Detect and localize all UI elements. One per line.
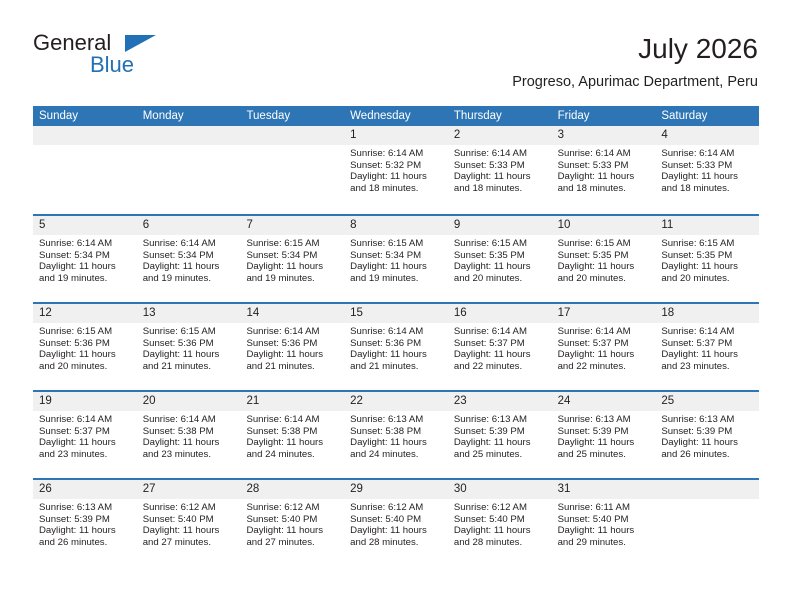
day-cell[interactable]: 9 Sunrise: 6:15 AM Sunset: 5:35 PM Dayli… — [448, 216, 552, 302]
day-cell[interactable]: 14 Sunrise: 6:14 AM Sunset: 5:36 PM Dayl… — [240, 304, 344, 390]
daylight-text-line1: Daylight: 11 hours — [39, 349, 131, 361]
page-header: General Blue July 2026 Progreso, Apurima… — [33, 32, 758, 96]
day-details: Sunrise: 6:14 AM Sunset: 5:38 PM Dayligh… — [240, 411, 344, 461]
daylight-text-line2: and 22 minutes. — [454, 361, 546, 373]
daylight-text-line1: Daylight: 11 hours — [350, 525, 442, 537]
daylight-text-line1: Daylight: 11 hours — [558, 437, 650, 449]
daylight-text-line2: and 20 minutes. — [39, 361, 131, 373]
daylight-text-line1: Daylight: 11 hours — [246, 261, 338, 273]
day-details: Sunrise: 6:14 AM Sunset: 5:33 PM Dayligh… — [552, 145, 656, 195]
daylight-text-line2: and 18 minutes. — [661, 183, 753, 195]
daylight-text-line2: and 26 minutes. — [661, 449, 753, 461]
day-number: 30 — [448, 480, 552, 499]
daylight-text-line1: Daylight: 11 hours — [350, 171, 442, 183]
day-details: Sunrise: 6:14 AM Sunset: 5:36 PM Dayligh… — [240, 323, 344, 373]
daylight-text-line1: Daylight: 11 hours — [558, 261, 650, 273]
day-number: 15 — [344, 304, 448, 323]
sunset-text: Sunset: 5:34 PM — [143, 250, 235, 262]
daylight-text-line2: and 22 minutes. — [558, 361, 650, 373]
day-cell[interactable]: 4 Sunrise: 6:14 AM Sunset: 5:33 PM Dayli… — [655, 126, 759, 214]
daylight-text-line2: and 27 minutes. — [143, 537, 235, 549]
sunrise-text: Sunrise: 6:14 AM — [39, 238, 131, 250]
sunset-text: Sunset: 5:32 PM — [350, 160, 442, 172]
day-number: 2 — [448, 126, 552, 145]
sunrise-text: Sunrise: 6:14 AM — [661, 326, 753, 338]
sunset-text: Sunset: 5:33 PM — [558, 160, 650, 172]
day-details: Sunrise: 6:13 AM Sunset: 5:39 PM Dayligh… — [33, 499, 137, 549]
day-number — [137, 126, 241, 145]
day-details: Sunrise: 6:13 AM Sunset: 5:39 PM Dayligh… — [655, 411, 759, 461]
sunrise-text: Sunrise: 6:14 AM — [454, 148, 546, 160]
day-number: 12 — [33, 304, 137, 323]
logo-text-general: General — [33, 32, 111, 54]
daylight-text-line1: Daylight: 11 hours — [350, 349, 442, 361]
day-details: Sunrise: 6:13 AM Sunset: 5:39 PM Dayligh… — [448, 411, 552, 461]
day-details: Sunrise: 6:15 AM Sunset: 5:35 PM Dayligh… — [552, 235, 656, 285]
sunrise-text: Sunrise: 6:14 AM — [39, 414, 131, 426]
day-cell[interactable]: 29 Sunrise: 6:12 AM Sunset: 5:40 PM Dayl… — [344, 480, 448, 566]
day-details: Sunrise: 6:14 AM Sunset: 5:34 PM Dayligh… — [137, 235, 241, 285]
day-details: Sunrise: 6:13 AM Sunset: 5:39 PM Dayligh… — [552, 411, 656, 461]
sunrise-text: Sunrise: 6:11 AM — [558, 502, 650, 514]
day-details: Sunrise: 6:14 AM Sunset: 5:33 PM Dayligh… — [655, 145, 759, 195]
daylight-text-line1: Daylight: 11 hours — [143, 261, 235, 273]
day-cell[interactable]: 20 Sunrise: 6:14 AM Sunset: 5:38 PM Dayl… — [137, 392, 241, 478]
day-details: Sunrise: 6:15 AM Sunset: 5:34 PM Dayligh… — [240, 235, 344, 285]
day-details: Sunrise: 6:14 AM Sunset: 5:38 PM Dayligh… — [137, 411, 241, 461]
day-details: Sunrise: 6:14 AM Sunset: 5:37 PM Dayligh… — [552, 323, 656, 373]
calendar-page: General Blue July 2026 Progreso, Apurima… — [0, 0, 792, 612]
day-number: 20 — [137, 392, 241, 411]
logo-text-blue: Blue — [90, 54, 134, 76]
daylight-text-line2: and 18 minutes. — [454, 183, 546, 195]
sunset-text: Sunset: 5:39 PM — [558, 426, 650, 438]
sunset-text: Sunset: 5:38 PM — [143, 426, 235, 438]
day-details: Sunrise: 6:12 AM Sunset: 5:40 PM Dayligh… — [448, 499, 552, 549]
sunset-text: Sunset: 5:40 PM — [558, 514, 650, 526]
day-number: 24 — [552, 392, 656, 411]
daylight-text-line1: Daylight: 11 hours — [143, 525, 235, 537]
sunrise-text: Sunrise: 6:13 AM — [350, 414, 442, 426]
daylight-text-line2: and 19 minutes. — [143, 273, 235, 285]
sunrise-text: Sunrise: 6:12 AM — [454, 502, 546, 514]
sunrise-text: Sunrise: 6:13 AM — [661, 414, 753, 426]
week-row: 26 Sunrise: 6:13 AM Sunset: 5:39 PM Dayl… — [33, 478, 759, 566]
day-cell — [240, 126, 344, 214]
title-block: July 2026 Progreso, Apurimac Department,… — [512, 32, 758, 92]
sunset-text: Sunset: 5:34 PM — [39, 250, 131, 262]
daylight-text-line2: and 28 minutes. — [350, 537, 442, 549]
day-number: 7 — [240, 216, 344, 235]
day-number — [33, 126, 137, 145]
daylight-text-line1: Daylight: 11 hours — [454, 437, 546, 449]
day-cell — [655, 480, 759, 566]
sunset-text: Sunset: 5:39 PM — [454, 426, 546, 438]
day-cell[interactable]: 12 Sunrise: 6:15 AM Sunset: 5:36 PM Dayl… — [33, 304, 137, 390]
day-number: 8 — [344, 216, 448, 235]
sunrise-text: Sunrise: 6:14 AM — [558, 148, 650, 160]
day-cell[interactable]: 24 Sunrise: 6:13 AM Sunset: 5:39 PM Dayl… — [552, 392, 656, 478]
daylight-text-line1: Daylight: 11 hours — [661, 261, 753, 273]
calendar-grid: Sunday Monday Tuesday Wednesday Thursday… — [33, 106, 759, 566]
daylight-text-line1: Daylight: 11 hours — [143, 349, 235, 361]
day-cell[interactable]: 30 Sunrise: 6:12 AM Sunset: 5:40 PM Dayl… — [448, 480, 552, 566]
week-row: 12 Sunrise: 6:15 AM Sunset: 5:36 PM Dayl… — [33, 302, 759, 390]
sunset-text: Sunset: 5:37 PM — [661, 338, 753, 350]
sunrise-text: Sunrise: 6:14 AM — [350, 326, 442, 338]
day-number: 27 — [137, 480, 241, 499]
day-number: 11 — [655, 216, 759, 235]
daylight-text-line1: Daylight: 11 hours — [558, 349, 650, 361]
day-number: 16 — [448, 304, 552, 323]
day-number: 25 — [655, 392, 759, 411]
day-number: 23 — [448, 392, 552, 411]
day-cell[interactable]: 27 Sunrise: 6:12 AM Sunset: 5:40 PM Dayl… — [137, 480, 241, 566]
day-cell[interactable]: 7 Sunrise: 6:15 AM Sunset: 5:34 PM Dayli… — [240, 216, 344, 302]
sunset-text: Sunset: 5:40 PM — [143, 514, 235, 526]
sunset-text: Sunset: 5:40 PM — [350, 514, 442, 526]
sunrise-text: Sunrise: 6:14 AM — [558, 326, 650, 338]
sunrise-text: Sunrise: 6:13 AM — [39, 502, 131, 514]
day-details: Sunrise: 6:12 AM Sunset: 5:40 PM Dayligh… — [344, 499, 448, 549]
day-number: 17 — [552, 304, 656, 323]
weekday-header-monday: Monday — [137, 106, 241, 126]
day-number: 1 — [344, 126, 448, 145]
day-number — [240, 126, 344, 145]
day-details: Sunrise: 6:13 AM Sunset: 5:38 PM Dayligh… — [344, 411, 448, 461]
daylight-text-line1: Daylight: 11 hours — [558, 171, 650, 183]
daylight-text-line2: and 26 minutes. — [39, 537, 131, 549]
daylight-text-line1: Daylight: 11 hours — [350, 261, 442, 273]
day-cell[interactable]: 5 Sunrise: 6:14 AM Sunset: 5:34 PM Dayli… — [33, 216, 137, 302]
day-details: Sunrise: 6:14 AM Sunset: 5:37 PM Dayligh… — [655, 323, 759, 373]
day-number: 26 — [33, 480, 137, 499]
day-cell[interactable]: 26 Sunrise: 6:13 AM Sunset: 5:39 PM Dayl… — [33, 480, 137, 566]
daylight-text-line2: and 28 minutes. — [454, 537, 546, 549]
page-subtitle: Progreso, Apurimac Department, Peru — [512, 72, 758, 92]
daylight-text-line2: and 29 minutes. — [558, 537, 650, 549]
daylight-text-line1: Daylight: 11 hours — [39, 261, 131, 273]
daylight-text-line1: Daylight: 11 hours — [39, 437, 131, 449]
day-cell[interactable]: 22 Sunrise: 6:13 AM Sunset: 5:38 PM Dayl… — [344, 392, 448, 478]
daylight-text-line1: Daylight: 11 hours — [661, 437, 753, 449]
sunrise-text: Sunrise: 6:15 AM — [454, 238, 546, 250]
weekday-header-tuesday: Tuesday — [240, 106, 344, 126]
general-blue-logo[interactable]: General Blue — [33, 32, 213, 80]
daylight-text-line2: and 25 minutes. — [454, 449, 546, 461]
sunrise-text: Sunrise: 6:14 AM — [143, 238, 235, 250]
sunrise-text: Sunrise: 6:14 AM — [246, 326, 338, 338]
week-row: 19 Sunrise: 6:14 AM Sunset: 5:37 PM Dayl… — [33, 390, 759, 478]
daylight-text-line2: and 19 minutes. — [246, 273, 338, 285]
daylight-text-line2: and 24 minutes. — [246, 449, 338, 461]
daylight-text-line1: Daylight: 11 hours — [246, 349, 338, 361]
day-number: 5 — [33, 216, 137, 235]
day-cell[interactable]: 19 Sunrise: 6:14 AM Sunset: 5:37 PM Dayl… — [33, 392, 137, 478]
day-cell — [137, 126, 241, 214]
sunrise-text: Sunrise: 6:15 AM — [350, 238, 442, 250]
sunset-text: Sunset: 5:36 PM — [39, 338, 131, 350]
day-number: 13 — [137, 304, 241, 323]
weekday-header-thursday: Thursday — [448, 106, 552, 126]
daylight-text-line2: and 25 minutes. — [558, 449, 650, 461]
day-details: Sunrise: 6:15 AM Sunset: 5:34 PM Dayligh… — [344, 235, 448, 285]
daylight-text-line2: and 24 minutes. — [350, 449, 442, 461]
sunrise-text: Sunrise: 6:15 AM — [661, 238, 753, 250]
sunrise-text: Sunrise: 6:14 AM — [454, 326, 546, 338]
daylight-text-line2: and 21 minutes. — [350, 361, 442, 373]
weekday-header-row: Sunday Monday Tuesday Wednesday Thursday… — [33, 106, 759, 126]
daylight-text-line2: and 27 minutes. — [246, 537, 338, 549]
sunset-text: Sunset: 5:36 PM — [246, 338, 338, 350]
day-details: Sunrise: 6:12 AM Sunset: 5:40 PM Dayligh… — [240, 499, 344, 549]
sunset-text: Sunset: 5:39 PM — [661, 426, 753, 438]
day-number: 22 — [344, 392, 448, 411]
sunrise-text: Sunrise: 6:14 AM — [143, 414, 235, 426]
week-row: 1 Sunrise: 6:14 AM Sunset: 5:32 PM Dayli… — [33, 126, 759, 214]
day-details: Sunrise: 6:12 AM Sunset: 5:40 PM Dayligh… — [137, 499, 241, 549]
day-number: 9 — [448, 216, 552, 235]
day-cell[interactable]: 1 Sunrise: 6:14 AM Sunset: 5:32 PM Dayli… — [344, 126, 448, 214]
sunset-text: Sunset: 5:35 PM — [558, 250, 650, 262]
daylight-text-line1: Daylight: 11 hours — [661, 349, 753, 361]
sunset-text: Sunset: 5:38 PM — [246, 426, 338, 438]
day-details: Sunrise: 6:14 AM Sunset: 5:34 PM Dayligh… — [33, 235, 137, 285]
day-cell[interactable]: 13 Sunrise: 6:15 AM Sunset: 5:36 PM Dayl… — [137, 304, 241, 390]
sunrise-text: Sunrise: 6:12 AM — [350, 502, 442, 514]
sunset-text: Sunset: 5:37 PM — [454, 338, 546, 350]
weekday-header-sunday: Sunday — [33, 106, 137, 126]
sunrise-text: Sunrise: 6:14 AM — [350, 148, 442, 160]
sunrise-text: Sunrise: 6:13 AM — [454, 414, 546, 426]
sunrise-text: Sunrise: 6:15 AM — [39, 326, 131, 338]
sunrise-text: Sunrise: 6:12 AM — [246, 502, 338, 514]
daylight-text-line2: and 20 minutes. — [558, 273, 650, 285]
day-number: 3 — [552, 126, 656, 145]
sunrise-text: Sunrise: 6:14 AM — [246, 414, 338, 426]
sunrise-text: Sunrise: 6:12 AM — [143, 502, 235, 514]
sunset-text: Sunset: 5:40 PM — [454, 514, 546, 526]
day-details: Sunrise: 6:11 AM Sunset: 5:40 PM Dayligh… — [552, 499, 656, 549]
day-number: 19 — [33, 392, 137, 411]
day-cell[interactable]: 11 Sunrise: 6:15 AM Sunset: 5:35 PM Dayl… — [655, 216, 759, 302]
day-number — [655, 480, 759, 499]
day-details: Sunrise: 6:15 AM Sunset: 5:35 PM Dayligh… — [655, 235, 759, 285]
day-cell[interactable]: 23 Sunrise: 6:13 AM Sunset: 5:39 PM Dayl… — [448, 392, 552, 478]
daylight-text-line1: Daylight: 11 hours — [246, 525, 338, 537]
day-cell — [33, 126, 137, 214]
day-number: 21 — [240, 392, 344, 411]
daylight-text-line1: Daylight: 11 hours — [39, 525, 131, 537]
sunset-text: Sunset: 5:35 PM — [661, 250, 753, 262]
daylight-text-line1: Daylight: 11 hours — [246, 437, 338, 449]
day-cell[interactable]: 18 Sunrise: 6:14 AM Sunset: 5:37 PM Dayl… — [655, 304, 759, 390]
day-cell[interactable]: 25 Sunrise: 6:13 AM Sunset: 5:39 PM Dayl… — [655, 392, 759, 478]
day-cell[interactable]: 28 Sunrise: 6:12 AM Sunset: 5:40 PM Dayl… — [240, 480, 344, 566]
sunset-text: Sunset: 5:33 PM — [661, 160, 753, 172]
daylight-text-line2: and 21 minutes. — [143, 361, 235, 373]
day-number: 28 — [240, 480, 344, 499]
sunset-text: Sunset: 5:39 PM — [39, 514, 131, 526]
sunset-text: Sunset: 5:34 PM — [246, 250, 338, 262]
sunrise-text: Sunrise: 6:14 AM — [661, 148, 753, 160]
day-number: 4 — [655, 126, 759, 145]
weekday-header-wednesday: Wednesday — [344, 106, 448, 126]
day-details: Sunrise: 6:14 AM Sunset: 5:33 PM Dayligh… — [448, 145, 552, 195]
day-cell[interactable]: 8 Sunrise: 6:15 AM Sunset: 5:34 PM Dayli… — [344, 216, 448, 302]
sunset-text: Sunset: 5:35 PM — [454, 250, 546, 262]
day-details: Sunrise: 6:14 AM Sunset: 5:32 PM Dayligh… — [344, 145, 448, 195]
daylight-text-line1: Daylight: 11 hours — [454, 261, 546, 273]
daylight-text-line2: and 20 minutes. — [661, 273, 753, 285]
daylight-text-line1: Daylight: 11 hours — [558, 525, 650, 537]
day-number: 6 — [137, 216, 241, 235]
day-cell[interactable]: 2 Sunrise: 6:14 AM Sunset: 5:33 PM Dayli… — [448, 126, 552, 214]
sunset-text: Sunset: 5:36 PM — [143, 338, 235, 350]
day-number: 31 — [552, 480, 656, 499]
sunset-text: Sunset: 5:34 PM — [350, 250, 442, 262]
daylight-text-line1: Daylight: 11 hours — [350, 437, 442, 449]
daylight-text-line2: and 19 minutes. — [39, 273, 131, 285]
daylight-text-line1: Daylight: 11 hours — [454, 525, 546, 537]
sunrise-text: Sunrise: 6:15 AM — [558, 238, 650, 250]
day-cell[interactable]: 10 Sunrise: 6:15 AM Sunset: 5:35 PM Dayl… — [552, 216, 656, 302]
sunset-text: Sunset: 5:38 PM — [350, 426, 442, 438]
daylight-text-line2: and 19 minutes. — [350, 273, 442, 285]
daylight-text-line1: Daylight: 11 hours — [454, 171, 546, 183]
weekday-header-saturday: Saturday — [655, 106, 759, 126]
sunset-text: Sunset: 5:37 PM — [558, 338, 650, 350]
daylight-text-line2: and 20 minutes. — [454, 273, 546, 285]
daylight-text-line2: and 23 minutes. — [143, 449, 235, 461]
day-details: Sunrise: 6:14 AM Sunset: 5:36 PM Dayligh… — [344, 323, 448, 373]
day-details: Sunrise: 6:14 AM Sunset: 5:37 PM Dayligh… — [33, 411, 137, 461]
day-number: 14 — [240, 304, 344, 323]
week-row: 5 Sunrise: 6:14 AM Sunset: 5:34 PM Dayli… — [33, 214, 759, 302]
daylight-text-line1: Daylight: 11 hours — [454, 349, 546, 361]
sunset-text: Sunset: 5:37 PM — [39, 426, 131, 438]
day-number: 10 — [552, 216, 656, 235]
sunrise-text: Sunrise: 6:15 AM — [246, 238, 338, 250]
day-cell[interactable]: 6 Sunrise: 6:14 AM Sunset: 5:34 PM Dayli… — [137, 216, 241, 302]
day-cell[interactable]: 16 Sunrise: 6:14 AM Sunset: 5:37 PM Dayl… — [448, 304, 552, 390]
page-title: July 2026 — [512, 32, 758, 66]
day-number: 29 — [344, 480, 448, 499]
day-details: Sunrise: 6:15 AM Sunset: 5:35 PM Dayligh… — [448, 235, 552, 285]
day-details: Sunrise: 6:14 AM Sunset: 5:37 PM Dayligh… — [448, 323, 552, 373]
daylight-text-line1: Daylight: 11 hours — [661, 171, 753, 183]
daylight-text-line2: and 21 minutes. — [246, 361, 338, 373]
weekday-header-friday: Friday — [552, 106, 656, 126]
daylight-text-line2: and 23 minutes. — [39, 449, 131, 461]
day-details: Sunrise: 6:15 AM Sunset: 5:36 PM Dayligh… — [33, 323, 137, 373]
day-cell[interactable]: 21 Sunrise: 6:14 AM Sunset: 5:38 PM Dayl… — [240, 392, 344, 478]
daylight-text-line1: Daylight: 11 hours — [143, 437, 235, 449]
day-cell[interactable]: 17 Sunrise: 6:14 AM Sunset: 5:37 PM Dayl… — [552, 304, 656, 390]
daylight-text-line2: and 23 minutes. — [661, 361, 753, 373]
daylight-text-line2: and 18 minutes. — [558, 183, 650, 195]
sunset-text: Sunset: 5:33 PM — [454, 160, 546, 172]
day-cell[interactable]: 3 Sunrise: 6:14 AM Sunset: 5:33 PM Dayli… — [552, 126, 656, 214]
sunset-text: Sunset: 5:40 PM — [246, 514, 338, 526]
day-cell[interactable]: 31 Sunrise: 6:11 AM Sunset: 5:40 PM Dayl… — [552, 480, 656, 566]
triangle-icon — [125, 35, 156, 52]
day-details: Sunrise: 6:15 AM Sunset: 5:36 PM Dayligh… — [137, 323, 241, 373]
sunrise-text: Sunrise: 6:15 AM — [143, 326, 235, 338]
sunrise-text: Sunrise: 6:13 AM — [558, 414, 650, 426]
day-cell[interactable]: 15 Sunrise: 6:14 AM Sunset: 5:36 PM Dayl… — [344, 304, 448, 390]
daylight-text-line2: and 18 minutes. — [350, 183, 442, 195]
day-number: 18 — [655, 304, 759, 323]
sunset-text: Sunset: 5:36 PM — [350, 338, 442, 350]
